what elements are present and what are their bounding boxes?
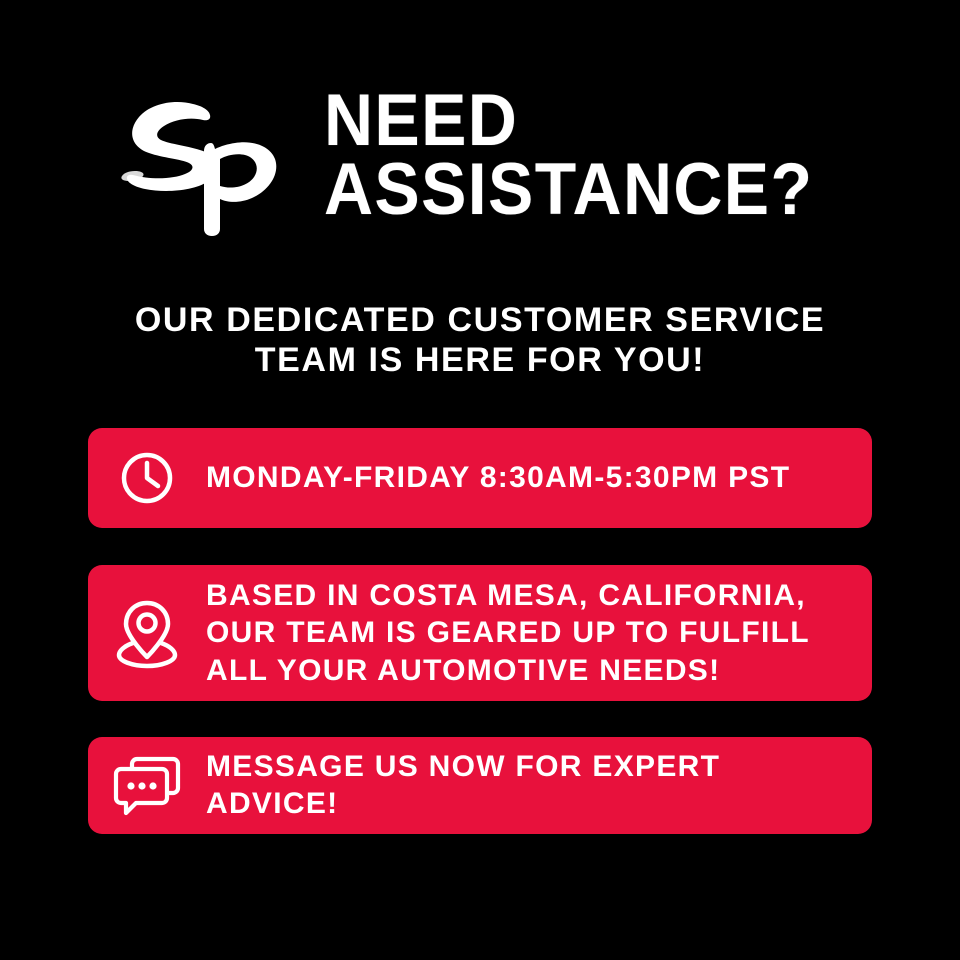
sp-brush-monogram-icon bbox=[110, 92, 310, 242]
header: NEED ASSISTANCE? bbox=[0, 86, 960, 242]
promo-poster: NEED ASSISTANCE? OUR DEDICATED CUSTOMER … bbox=[0, 0, 960, 960]
location-banner[interactable]: BASED IN COSTA MESA, CALIFORNIA, OUR TEA… bbox=[88, 565, 872, 701]
hours-text: MONDAY-FRIDAY 8:30AM-5:30PM PST bbox=[206, 460, 872, 497]
location-pin-icon bbox=[88, 597, 206, 669]
clock-icon bbox=[88, 450, 206, 506]
location-text: BASED IN COSTA MESA, CALIFORNIA, OUR TEA… bbox=[206, 577, 872, 690]
page-title: NEED ASSISTANCE? bbox=[324, 86, 813, 225]
message-text: MESSAGE US NOW FOR EXPERT ADVICE! bbox=[206, 749, 872, 822]
hours-banner[interactable]: MONDAY-FRIDAY 8:30AM-5:30PM PST bbox=[88, 428, 872, 528]
chat-bubbles-icon bbox=[88, 755, 206, 817]
message-banner[interactable]: MESSAGE US NOW FOR EXPERT ADVICE! bbox=[88, 737, 872, 834]
subtitle: OUR DEDICATED CUSTOMER SERVICE TEAM IS H… bbox=[0, 300, 960, 380]
